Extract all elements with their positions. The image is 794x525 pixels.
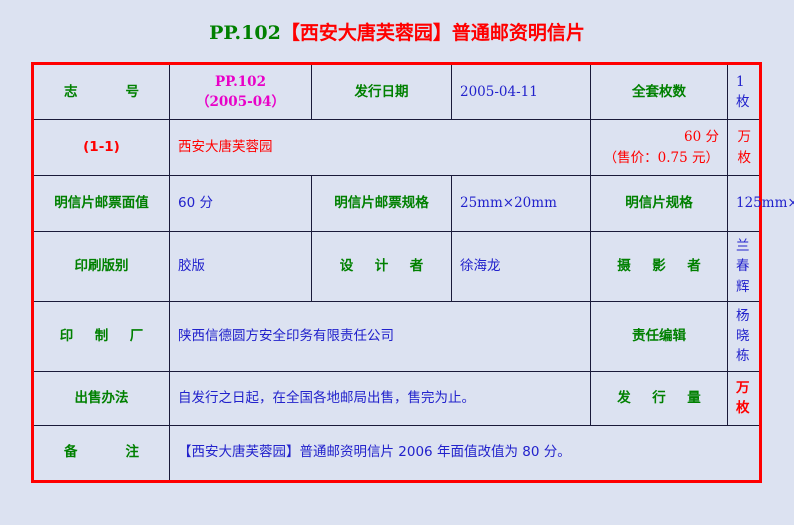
value-issue-volume: 万枚 bbox=[728, 371, 761, 425]
page-title-code: PP.102 bbox=[209, 22, 281, 44]
value-stamp-face-value: 60 分 bbox=[170, 176, 312, 232]
label-index: (1-1) bbox=[33, 120, 170, 176]
label-photographer: 摄 影 者 bbox=[591, 232, 728, 302]
postcard-info-table: 志 号 PP.102 （2005-04） 发行日期 2005-04-11 全套枚… bbox=[31, 62, 762, 483]
label-card-size: 明信片规格 bbox=[591, 176, 728, 232]
value-quantity: 万枚 bbox=[728, 120, 761, 176]
value-zhihao-line2: （2005-04） bbox=[178, 92, 303, 112]
value-card-size: 125mm×78mm bbox=[728, 176, 761, 232]
value-card-name: 西安大唐芙蓉园 bbox=[170, 120, 591, 176]
value-printer: 陕西信德圆方安全印务有限责任公司 bbox=[170, 301, 591, 371]
label-stamp-face-value: 明信片邮票面值 bbox=[33, 176, 170, 232]
label-remark: 备 注 bbox=[33, 425, 170, 481]
value-face-value-line1: 60 分 bbox=[599, 127, 719, 147]
label-designer: 设 计 者 bbox=[312, 232, 452, 302]
value-set-count: 1 枚 bbox=[728, 64, 761, 120]
value-designer: 徐海龙 bbox=[452, 232, 591, 302]
table-row: 备 注 【西安大唐芙蓉园】普通邮资明信片 2006 年面值改值为 80 分。 bbox=[33, 425, 761, 481]
label-sale-method: 出售办法 bbox=[33, 371, 170, 425]
table-row: 出售办法 自发行之日起，在全国各地邮局出售，售完为止。 发 行 量 万枚 bbox=[33, 371, 761, 425]
table-row: 志 号 PP.102 （2005-04） 发行日期 2005-04-11 全套枚… bbox=[33, 64, 761, 120]
value-zhihao-line1: PP.102 bbox=[178, 72, 303, 92]
table-row: (1-1) 西安大唐芙蓉园 60 分 （售价：0.75 元） 万枚 bbox=[33, 120, 761, 176]
table-row: 印刷版别 胶版 设 计 者 徐海龙 摄 影 者 兰春辉 bbox=[33, 232, 761, 302]
label-set-count: 全套枚数 bbox=[591, 64, 728, 120]
value-editor: 杨晓栋 bbox=[728, 301, 761, 371]
label-editor: 责任编辑 bbox=[591, 301, 728, 371]
value-zhihao: PP.102 （2005-04） bbox=[170, 64, 312, 120]
value-sale-method: 自发行之日起，在全国各地邮局出售，售完为止。 bbox=[170, 371, 591, 425]
value-issue-date: 2005-04-11 bbox=[452, 64, 591, 120]
page-title: PP.102【西安大唐芙蓉园】普通邮资明信片 bbox=[0, 0, 794, 45]
value-photographer: 兰春辉 bbox=[728, 232, 761, 302]
label-printer: 印 制 厂 bbox=[33, 301, 170, 371]
value-remark: 【西安大唐芙蓉园】普通邮资明信片 2006 年面值改值为 80 分。 bbox=[170, 425, 761, 481]
value-print-type: 胶版 bbox=[170, 232, 312, 302]
table-row: 印 制 厂 陕西信德圆方安全印务有限责任公司 责任编辑 杨晓栋 bbox=[33, 301, 761, 371]
page-title-rest: 【西安大唐芙蓉园】普通邮资明信片 bbox=[281, 22, 585, 44]
label-issue-volume: 发 行 量 bbox=[591, 371, 728, 425]
page-root: PP.102【西安大唐芙蓉园】普通邮资明信片 志 号 PP.102 （2005-… bbox=[0, 0, 794, 525]
value-stamp-size: 25mm×20mm bbox=[452, 176, 591, 232]
value-face-value: 60 分 （售价：0.75 元） bbox=[591, 120, 728, 176]
table-row: 明信片邮票面值 60 分 明信片邮票规格 25mm×20mm 明信片规格 125… bbox=[33, 176, 761, 232]
label-zhihao: 志 号 bbox=[33, 64, 170, 120]
label-print-type: 印刷版别 bbox=[33, 232, 170, 302]
label-issue-date: 发行日期 bbox=[312, 64, 452, 120]
value-face-value-line2: （售价：0.75 元） bbox=[599, 148, 719, 168]
label-stamp-size: 明信片邮票规格 bbox=[312, 176, 452, 232]
